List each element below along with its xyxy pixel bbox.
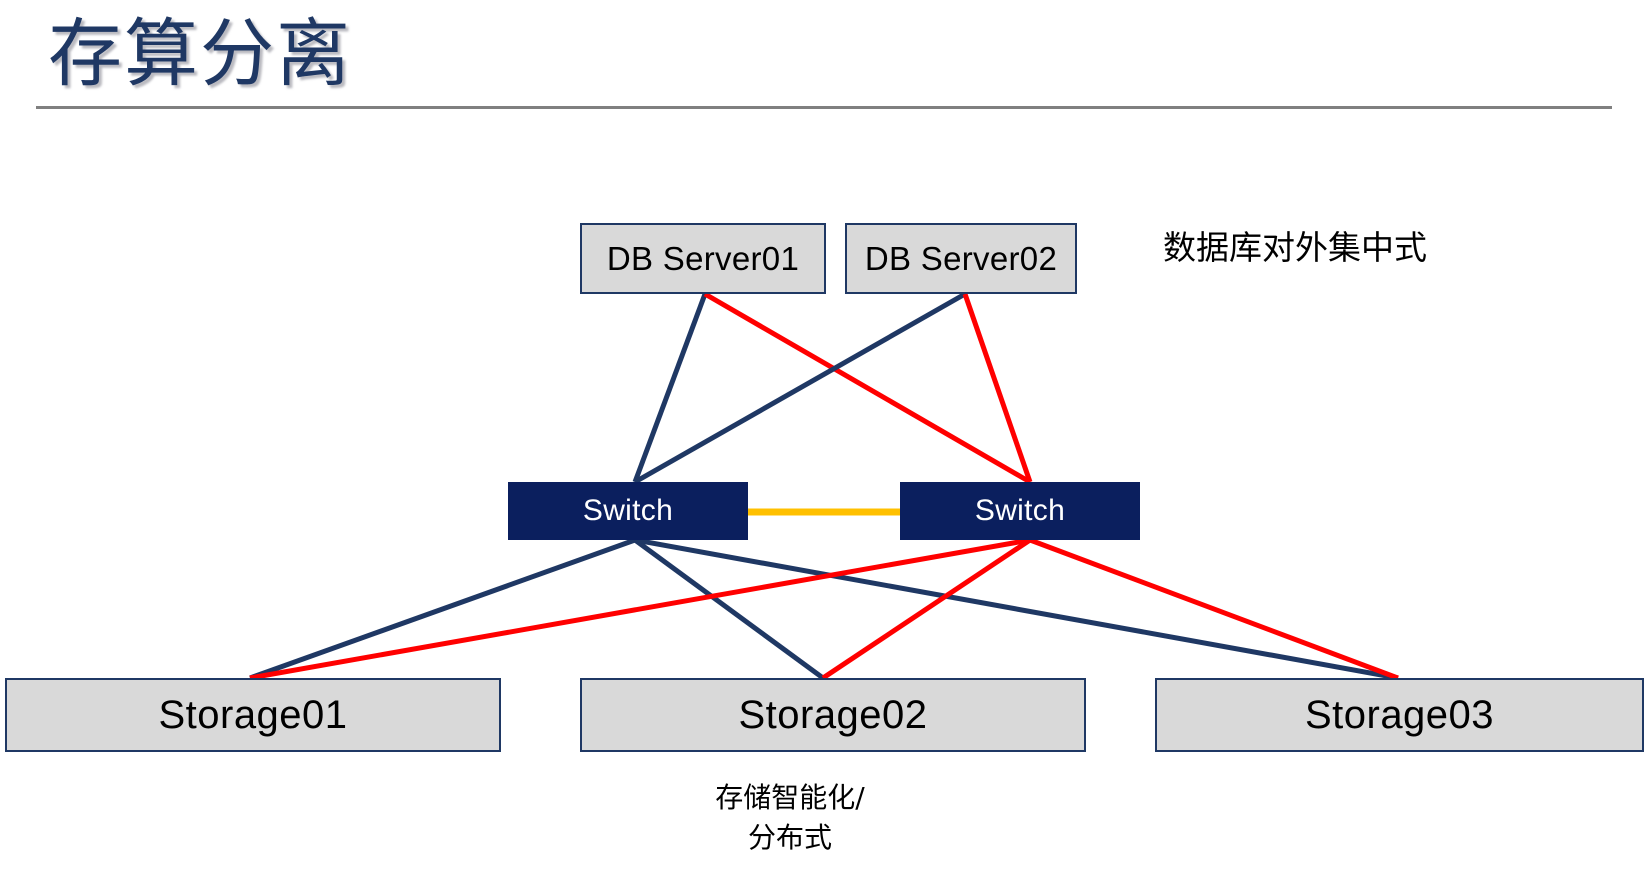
- node-db-server-01[interactable]: DB Server01: [580, 223, 826, 294]
- link-switch-left-storage02: [635, 540, 823, 678]
- node-switch-right[interactable]: Switch: [900, 482, 1140, 540]
- slide-canvas: 存算分离 DB Server01 DB Server02 数据库对外集中式 Sw…: [0, 0, 1648, 886]
- link-db01-switch-left: [635, 294, 705, 482]
- title-divider: [36, 106, 1612, 109]
- link-db01-switch-right: [705, 294, 1030, 482]
- node-switch-left[interactable]: Switch: [508, 482, 748, 540]
- node-storage-03-label: Storage03: [1305, 693, 1494, 738]
- connection-lines-layer: [0, 0, 1648, 886]
- link-switch-right-storage01: [250, 540, 1030, 678]
- annotation-storage-tier: 存储智能化/ 分布式: [640, 778, 940, 858]
- link-db02-switch-left: [635, 294, 965, 482]
- node-db-server-02-label: DB Server02: [865, 240, 1057, 278]
- node-storage-01-label: Storage01: [158, 693, 347, 738]
- node-storage-01[interactable]: Storage01: [5, 678, 501, 752]
- node-storage-02-label: Storage02: [738, 693, 927, 738]
- node-db-server-02[interactable]: DB Server02: [845, 223, 1077, 294]
- node-storage-03[interactable]: Storage03: [1155, 678, 1644, 752]
- link-switch-right-storage03: [1030, 540, 1398, 678]
- link-switch-right-storage02: [823, 540, 1030, 678]
- node-switch-right-label: Switch: [975, 494, 1065, 528]
- annotation-db-tier: 数据库对外集中式: [1163, 224, 1427, 272]
- page-title: 存算分离: [48, 8, 352, 100]
- node-switch-left-label: Switch: [583, 494, 673, 528]
- link-switch-left-storage03: [635, 540, 1398, 678]
- node-db-server-01-label: DB Server01: [607, 240, 799, 278]
- link-switch-left-storage01: [250, 540, 635, 678]
- link-db02-switch-right: [965, 294, 1030, 482]
- node-storage-02[interactable]: Storage02: [580, 678, 1086, 752]
